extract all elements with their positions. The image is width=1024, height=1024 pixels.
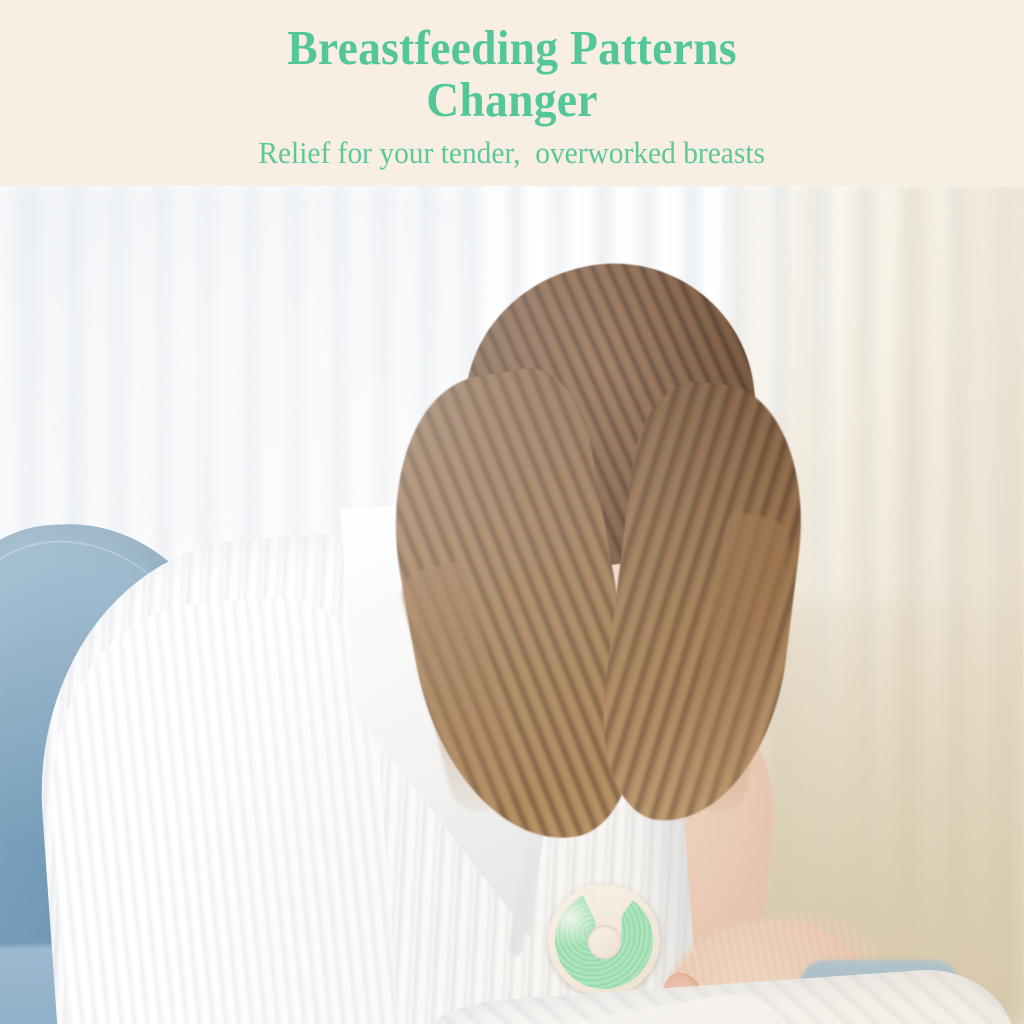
title-line-1: Breastfeeding Patterns — [287, 20, 737, 75]
title-line-2: Changer — [426, 72, 598, 127]
header-banner: Breastfeeding Patterns Changer Relief fo… — [0, 0, 1024, 186]
product-listing-image: Breastfeeding Patterns Changer Relief fo… — [0, 0, 1024, 1024]
earring-icon — [482, 514, 498, 536]
hero-photo — [0, 186, 1024, 1024]
page-subtitle: Relief for your tender, overworked breas… — [259, 136, 766, 170]
page-title: Breastfeeding Patterns Changer — [159, 22, 866, 126]
mother-head — [452, 298, 742, 678]
